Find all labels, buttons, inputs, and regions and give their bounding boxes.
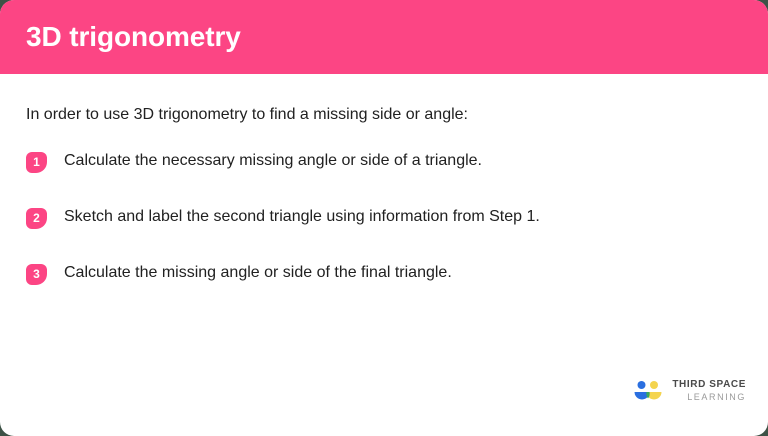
lesson-card: 3D trigonometry In order to use 3D trigo… [0, 0, 768, 436]
page-title: 3D trigonometry [26, 23, 241, 51]
card-body: In order to use 3D trigonometry to find … [0, 74, 768, 285]
logo-blue-head [638, 381, 646, 389]
brand-wordmark: THIRD SPACE LEARNING [672, 380, 746, 402]
list-item: 1 Calculate the necessary missing angle … [26, 150, 742, 173]
intro-text: In order to use 3D trigonometry to find … [26, 104, 742, 126]
brand-logo: THIRD SPACE LEARNING [633, 379, 746, 403]
list-item: 3 Calculate the missing angle or side of… [26, 262, 742, 285]
card-header: 3D trigonometry [0, 0, 768, 74]
brand-name: THIRD SPACE [672, 380, 746, 390]
step-text: Calculate the missing angle or side of t… [64, 262, 452, 284]
step-text: Calculate the necessary missing angle or… [64, 150, 482, 172]
step-number-badge: 2 [26, 208, 47, 229]
list-item: 2 Sketch and label the second triangle u… [26, 206, 742, 229]
step-number-badge: 3 [26, 264, 47, 285]
steps-list: 1 Calculate the necessary missing angle … [26, 150, 742, 285]
step-text: Sketch and label the second triangle usi… [64, 206, 540, 228]
third-space-learning-logo-icon [633, 379, 663, 403]
logo-yellow-head [650, 381, 658, 389]
step-number-badge: 1 [26, 152, 47, 173]
brand-tagline: LEARNING [672, 393, 746, 402]
